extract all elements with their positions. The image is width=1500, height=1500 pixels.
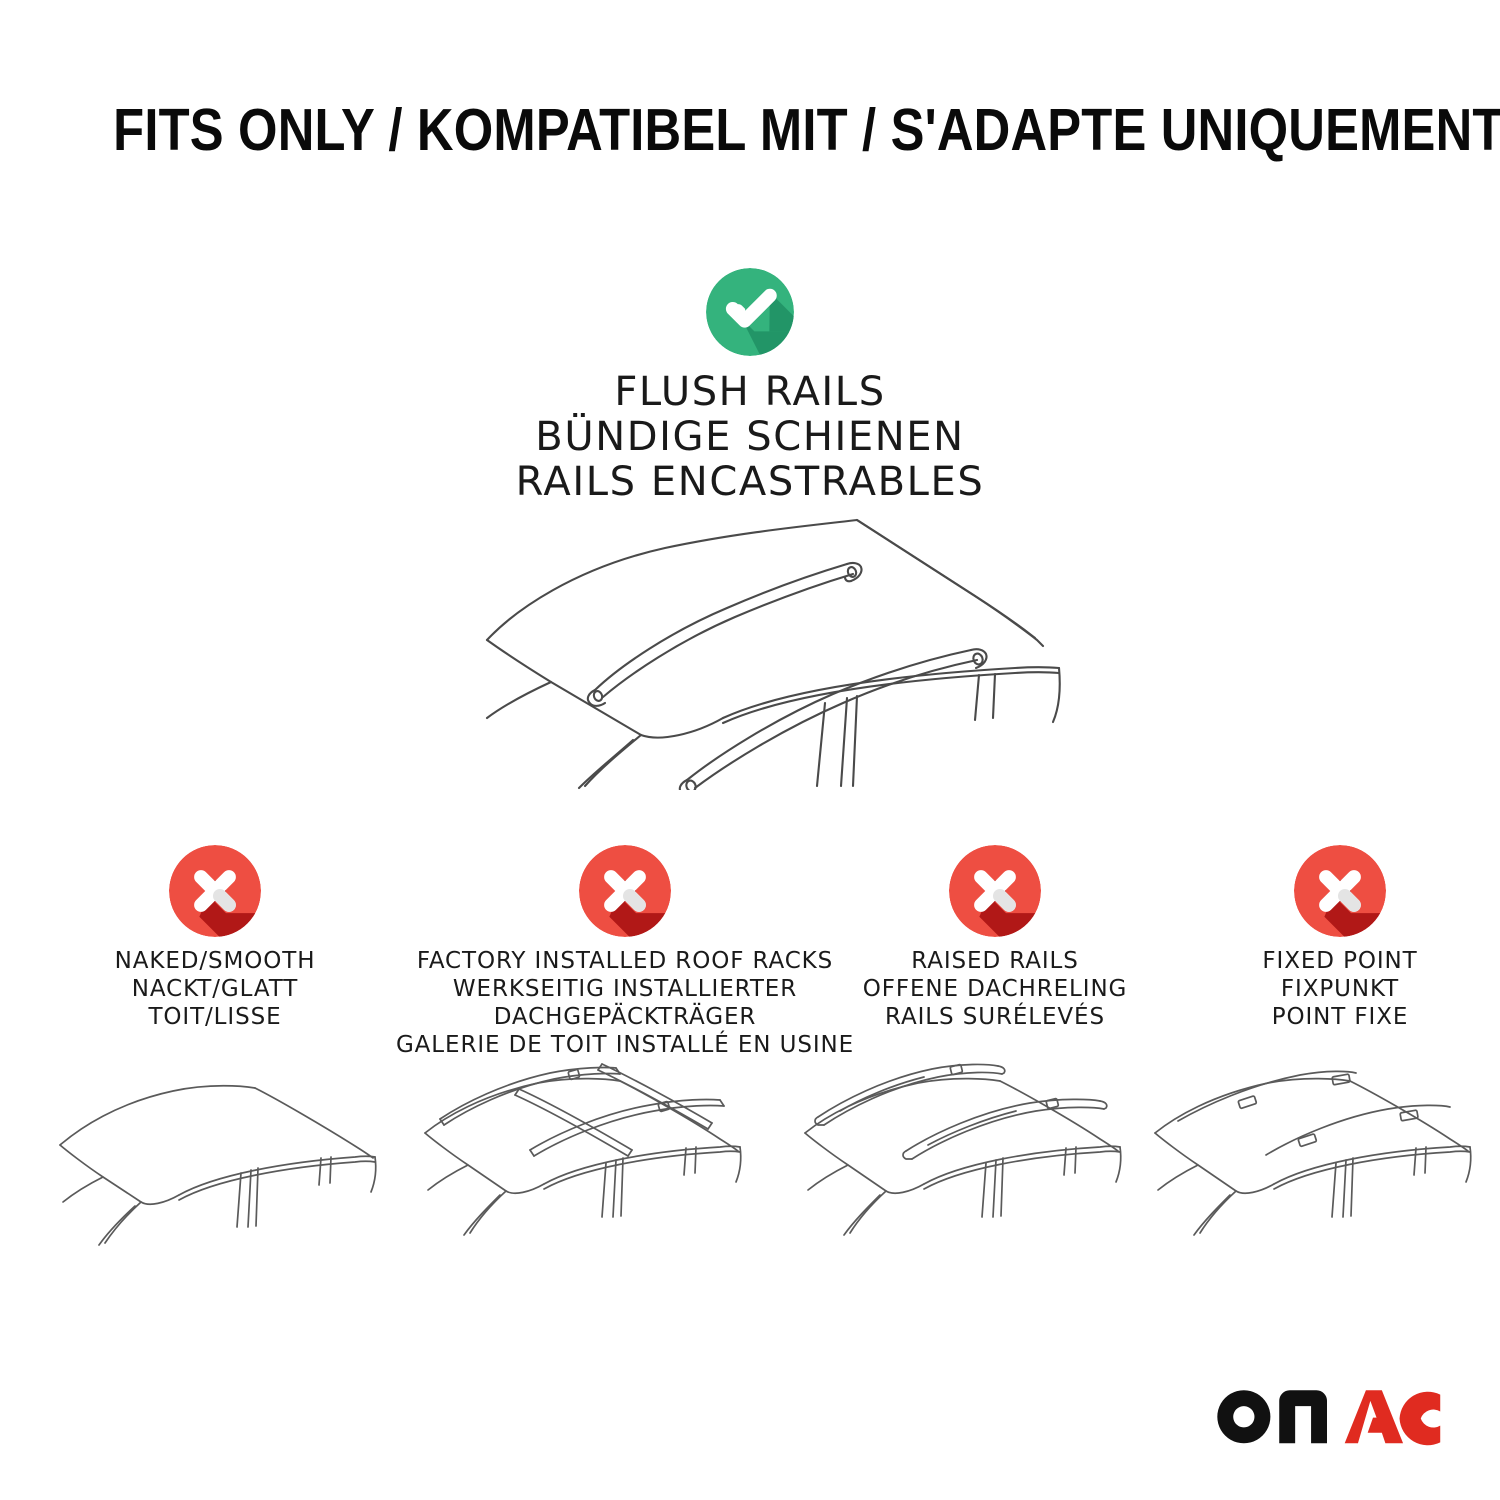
caption-line-de-2: DACHGEPÄCKTRÄGER (395, 1003, 855, 1031)
caption-line-de: FIXPUNKT (1165, 975, 1500, 1003)
incompatible-caption: FACTORY INSTALLED ROOF RACKS WERKSEITIG … (395, 947, 855, 1059)
red-x-circle-icon (169, 845, 261, 937)
caption-line-fr: TOIT/LISSE (25, 1003, 405, 1031)
car-roof-flush-rails-illustration (455, 490, 1075, 790)
incompatible-item-naked-smooth: NAKED/SMOOTH NACKT/GLATT TOIT/LISSE (25, 845, 405, 1031)
red-x-circle-icon (1294, 845, 1386, 937)
caption-line-de: NACKT/GLATT (25, 975, 405, 1003)
caption-line-fr: POINT FIXE (1165, 1003, 1500, 1031)
page-title-text: FITS ONLY / KOMPATIBEL MIT / S'ADAPTE UN… (113, 96, 1500, 164)
incompatible-caption: FIXED POINT FIXPUNKT POINT FIXE (1165, 947, 1500, 1031)
compatible-line-en: FLUSH RAILS (0, 370, 1500, 415)
caption-line-de-1: WERKSEITIG INSTALLIERTER (395, 975, 855, 1003)
compatible-line-de: BÜNDIGE SCHIENEN (0, 415, 1500, 460)
incompatible-item-raised-rails: RAISED RAILS OFFENE DACHRELING RAILS SUR… (820, 845, 1170, 1031)
car-roof-raised-rails-illustration (800, 1055, 1150, 1280)
caption-line-en: NAKED/SMOOTH (25, 947, 405, 975)
incompatible-item-factory-roof-racks: FACTORY INSTALLED ROOF RACKS WERKSEITIG … (395, 845, 855, 1059)
caption-line-fr: RAILS SURÉLEVÉS (820, 1003, 1170, 1031)
incompatible-caption: RAISED RAILS OFFENE DACHRELING RAILS SUR… (820, 947, 1170, 1031)
omac-logo (1212, 1382, 1442, 1448)
car-roof-bare-illustration (55, 1055, 405, 1280)
caption-line-en: RAISED RAILS (820, 947, 1170, 975)
red-x-circle-icon (949, 845, 1041, 937)
compatible-caption: FLUSH RAILS BÜNDIGE SCHIENEN RAILS ENCAS… (0, 370, 1500, 505)
page-title: FITS ONLY / KOMPATIBEL MIT / S'ADAPTE UN… (0, 96, 1500, 164)
green-check-circle-icon (706, 268, 794, 356)
incompatible-caption: NAKED/SMOOTH NACKT/GLATT TOIT/LISSE (25, 947, 405, 1031)
car-roof-factory-rack-illustration (420, 1055, 770, 1280)
red-x-circle-icon (579, 845, 671, 937)
car-roof-fixed-point-illustration (1150, 1055, 1500, 1280)
caption-line-de: OFFENE DACHRELING (820, 975, 1170, 1003)
caption-line-en: FACTORY INSTALLED ROOF RACKS (395, 947, 855, 975)
caption-line-en: FIXED POINT (1165, 947, 1500, 975)
compatible-section: FLUSH RAILS BÜNDIGE SCHIENEN RAILS ENCAS… (0, 268, 1500, 505)
incompatible-item-fixed-point: FIXED POINT FIXPUNKT POINT FIXE (1165, 845, 1500, 1031)
roof-type-illustrations (0, 1055, 1500, 1285)
